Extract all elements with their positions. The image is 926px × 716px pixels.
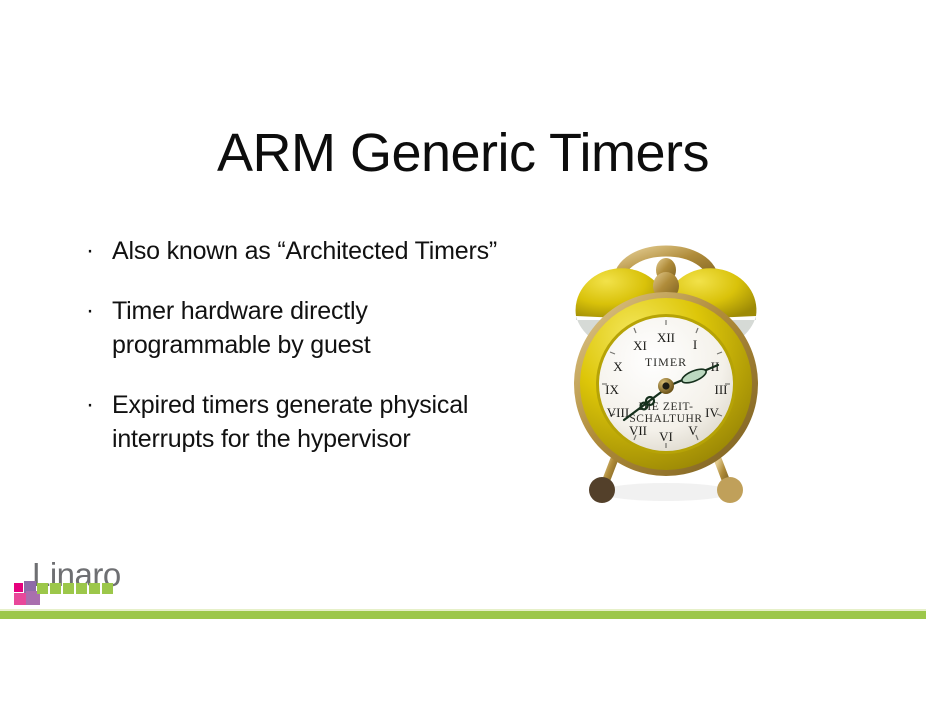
svg-text:VI: VI [659, 429, 673, 444]
clock-face-brand: TIMER [645, 355, 687, 369]
logo-square-pink [14, 593, 26, 605]
bullet-dot-icon: · [80, 234, 112, 268]
list-item-text: Also known as “Architected Timers” [112, 234, 500, 268]
logo-square-green-2 [50, 583, 61, 594]
linaro-logo-blocks [14, 581, 124, 610]
page-title: ARM Generic Timers [0, 123, 926, 183]
list-item: · Timer hardware directly programmable b… [80, 294, 500, 362]
footer-rule [0, 611, 926, 619]
linaro-logo: Linaro [14, 558, 124, 610]
logo-square-green-4 [76, 583, 87, 594]
svg-text:VII: VII [629, 423, 647, 438]
list-item-text: Expired timers generate physical interru… [112, 388, 500, 456]
logo-square-green-6 [102, 583, 113, 594]
slide-canvas: ARM Generic Timers · Also known as “Arch… [0, 0, 926, 716]
logo-square-green-1 [37, 583, 48, 594]
svg-text:IV: IV [705, 405, 719, 420]
svg-text:X: X [613, 359, 623, 374]
logo-square-magenta [14, 583, 23, 592]
bullet-dot-icon: · [80, 388, 112, 422]
list-item: · Also known as “Architected Timers” [80, 234, 500, 268]
svg-text:XII: XII [657, 330, 675, 345]
list-item: · Expired timers generate physical inter… [80, 388, 500, 456]
bullet-list: · Also known as “Architected Timers” · T… [80, 234, 500, 456]
svg-text:III: III [715, 382, 728, 397]
alarm-clock-icon: XII I II III IV V VI VII VIII IX X XI TI… [552, 224, 780, 506]
alarm-clock-image: XII I II III IV V VI VII VIII IX X XI TI… [552, 224, 780, 506]
svg-text:V: V [688, 423, 698, 438]
clock-face-subtitle-line2: SCHALTUHR [629, 413, 702, 425]
svg-text:I: I [693, 337, 697, 352]
bullet-dot-icon: · [80, 294, 112, 328]
svg-text:XI: XI [633, 338, 647, 353]
svg-text:IX: IX [605, 382, 619, 397]
list-item-text: Timer hardware directly programmable by … [112, 294, 500, 362]
logo-square-green-5 [89, 583, 100, 594]
logo-square-green-3 [63, 583, 74, 594]
